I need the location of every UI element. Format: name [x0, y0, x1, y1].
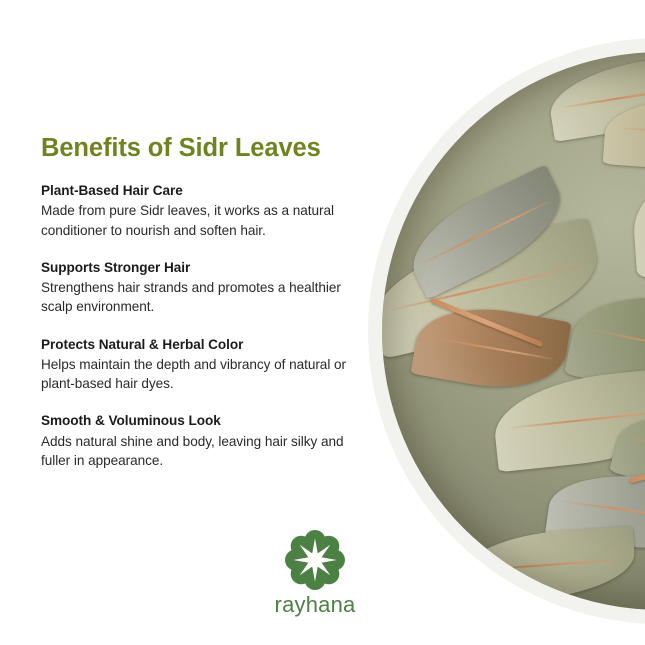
brand-wordmark: rayhana: [255, 594, 375, 616]
bowl-interior: [382, 52, 645, 610]
benefit-title: Smooth & Voluminous Look: [41, 412, 349, 430]
dried-leaf: [458, 526, 637, 604]
benefit-item: Plant-Based Hair Care Made from pure Sid…: [41, 182, 349, 240]
page-title: Benefits of Sidr Leaves: [41, 134, 321, 162]
benefit-item: Smooth & Voluminous Look Adds natural sh…: [41, 412, 349, 470]
benefit-title: Protects Natural & Herbal Color: [41, 336, 349, 354]
benefit-title: Supports Stronger Hair: [41, 259, 349, 277]
benefit-title: Plant-Based Hair Care: [41, 182, 349, 200]
benefit-description: Helps maintain the depth and vibrancy of…: [41, 355, 349, 394]
benefits-list: Plant-Based Hair Care Made from pure Sid…: [41, 182, 349, 470]
benefit-description: Made from pure Sidr leaves, it works as …: [41, 201, 349, 240]
benefit-item: Supports Stronger Hair Strengthens hair …: [41, 259, 349, 317]
benefit-item: Protects Natural & Herbal Color Helps ma…: [41, 336, 349, 394]
flower-rosette-icon: [285, 530, 345, 590]
product-benefits-infographic: Benefits of Sidr Leaves Plant-Based Hair…: [0, 0, 645, 645]
brand-logo: rayhana: [255, 530, 375, 616]
benefit-description: Adds natural shine and body, leaving hai…: [41, 432, 349, 471]
benefit-description: Strengthens hair strands and promotes a …: [41, 278, 349, 317]
white-petals: [293, 538, 336, 581]
sidr-leaves-bowl-photo: [368, 38, 645, 624]
